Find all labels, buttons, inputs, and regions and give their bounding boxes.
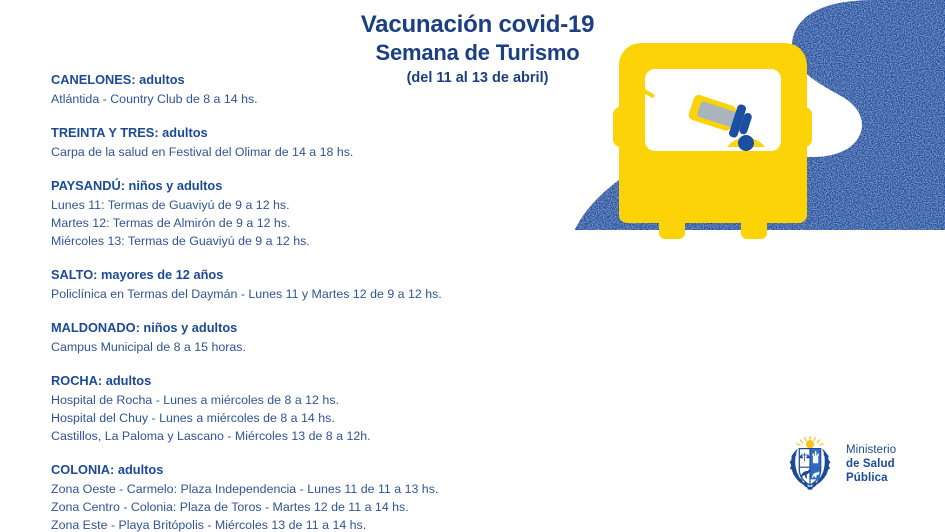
department-block: TREINTA Y TRES: adultosCarpa de la salud… (51, 124, 521, 161)
branch-knot (807, 487, 814, 490)
department-detail-line: Castillos, La Paloma y Lascano - Miércol… (51, 427, 521, 445)
uruguay-coat-of-arms-icon (783, 436, 837, 492)
syringe-flange (728, 103, 747, 138)
department-detail-line: Martes 12: Termas de Almirón de 9 a 12 h… (51, 214, 521, 232)
syringe-needle (631, 82, 656, 98)
department-detail-line: Zona Centro - Colonia: Plaza de Toros - … (51, 498, 521, 516)
department-heading: MALDONADO: niños y adultos (51, 319, 521, 336)
page-title: Vacunación covid-19 (0, 10, 945, 39)
department-block: SALTO: mayores de 12 añosPoliclínica en … (51, 266, 521, 303)
bus-headlight-right (752, 174, 774, 196)
yellow-bus (613, 43, 812, 239)
bus-grille-bar-1 (681, 171, 745, 178)
bus-mirror-left (613, 107, 628, 147)
department-detail-line: Zona Oeste - Carmelo: Plaza Independenci… (51, 480, 521, 498)
ministry-logo: Ministerio de Salud Pública (783, 436, 896, 492)
department-detail-line: Hospital del Chuy - Lunes a miércoles de… (51, 409, 521, 427)
road-shape (575, 0, 945, 230)
department-detail-line: Lunes 11: Termas de Guaviyú de 9 a 12 hs… (51, 196, 521, 214)
sun-of-may (797, 436, 823, 448)
department-heading: SALTO: mayores de 12 años (51, 266, 521, 283)
steering-hub (738, 135, 754, 151)
bus-wheel-left (659, 217, 685, 239)
syringe-barrel (687, 94, 737, 132)
department-block: ROCHA: adultosHospital de Rocha - Lunes … (51, 372, 521, 445)
ministry-line-2: de Salud (846, 457, 896, 471)
fortress-quarter (810, 449, 820, 467)
department-detail-line: Hospital de Rocha - Lunes a miércoles de… (51, 391, 521, 409)
department-detail-line: Policlínica en Termas del Daymán - Lunes… (51, 285, 521, 303)
ministry-line-3: Pública (846, 471, 896, 485)
bus-body (619, 43, 807, 223)
bus-mirror-right (797, 107, 812, 147)
department-detail-line: Miércoles 13: Termas de Guaviyú de 9 a 1… (51, 232, 521, 250)
bus-grille-bar-3 (681, 197, 745, 204)
syringe-thumbrest (738, 112, 752, 135)
department-heading: PAYSANDÚ: niños y adultos (51, 177, 521, 194)
page-subtitle: Semana de Turismo (0, 39, 945, 66)
department-detail-line: Campus Municipal de 8 a 15 horas. (51, 338, 521, 356)
department-heading: CANELONES: adultos (51, 71, 521, 88)
department-heading: TREINTA Y TRES: adultos (51, 124, 521, 141)
department-block: MALDONADO: niños y adultosCampus Municip… (51, 319, 521, 356)
syringe-barrel-white (647, 79, 708, 124)
department-detail-line: Carpa de la salud en Festival del Olimar… (51, 143, 521, 161)
sun-disc (806, 440, 814, 448)
department-heading: ROCHA: adultos (51, 372, 521, 389)
department-block: PAYSANDÚ: niños y adultosLunes 11: Terma… (51, 177, 521, 250)
steering-wheel (727, 138, 765, 147)
department-heading: COLONIA: adultos (51, 461, 521, 478)
bus-headlight-left (652, 174, 674, 196)
ministry-name: Ministerio de Salud Pública (846, 443, 896, 485)
vaccination-poster: Vacunación covid-19 Semana de Turismo (d… (0, 0, 945, 532)
department-detail-line: Zona Este - Playa Britópolis - Miércoles… (51, 516, 521, 532)
department-listing: CANELONES: adultosAtlántida - Country Cl… (51, 71, 521, 532)
bus-wheel-right (741, 217, 767, 239)
ministry-line-1: Ministerio (846, 443, 896, 457)
ox-quarter (810, 468, 820, 480)
syringe-plunger (697, 101, 738, 128)
bus-road-illustration (575, 0, 945, 330)
shield (799, 449, 820, 486)
bus-grille-bar-2 (681, 184, 745, 191)
department-block: COLONIA: adultosZona Oeste - Carmelo: Pl… (51, 461, 521, 532)
syringe-icon (625, 70, 755, 141)
department-block: CANELONES: adultosAtlántida - Country Cl… (51, 71, 521, 108)
department-detail-line: Atlántida - Country Club de 8 a 14 hs. (51, 90, 521, 108)
